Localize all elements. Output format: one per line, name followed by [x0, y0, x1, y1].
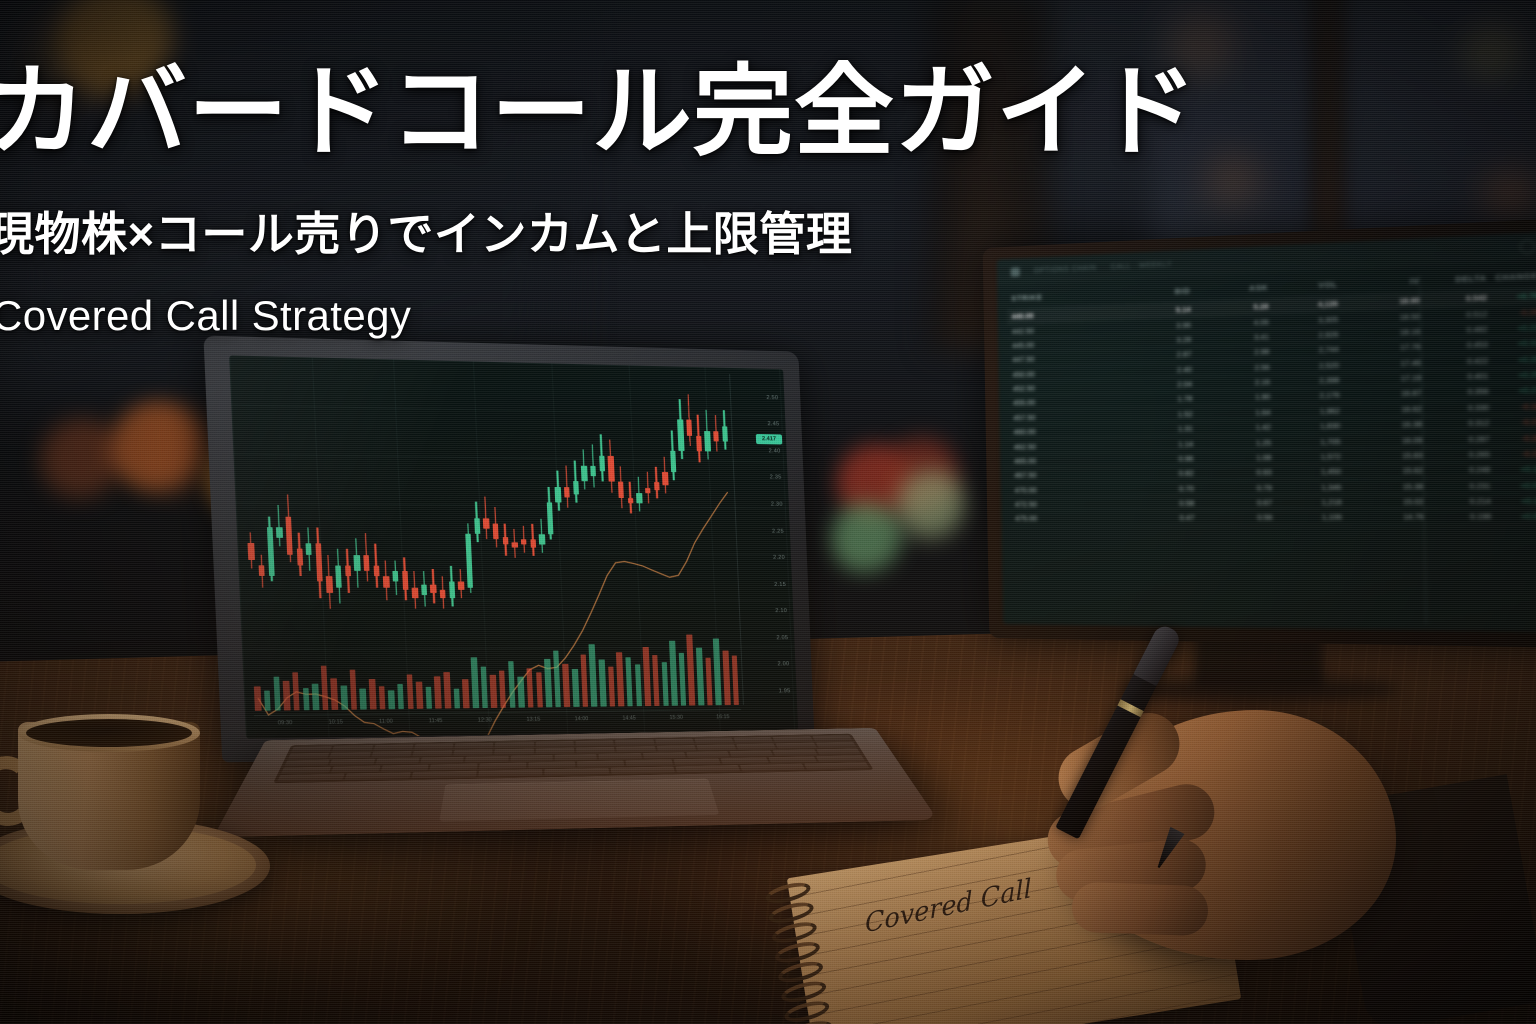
table-cell: +0.20	[1488, 354, 1536, 365]
price-tick: 1.95	[779, 688, 791, 694]
volume-bar	[378, 686, 385, 709]
table-cell: 2.04	[1116, 379, 1192, 390]
table-cell: 1.42	[1193, 422, 1271, 433]
table-body: 440.005.145.284,12618.900.542+0.78442.50…	[1008, 288, 1536, 526]
volume-bar	[713, 639, 721, 705]
current-price-tag: 2.417	[756, 434, 782, 445]
volume-bar	[526, 668, 534, 707]
volume-bar	[518, 677, 525, 708]
volume-bar	[553, 650, 561, 707]
table-cell: +0.27	[1489, 385, 1536, 396]
hero-banner: OPTIONS CHAIN CALL · WEEKLY STRIKEBIDASK…	[0, 0, 1536, 1024]
time-tick: 15:30	[669, 715, 683, 721]
laptop-warm-light	[213, 728, 938, 837]
table-cell: 455.00	[1013, 396, 1116, 408]
table-cell: +0.07	[1490, 480, 1536, 490]
table-cell: 450.00	[1013, 367, 1116, 379]
app-logo-icon	[1011, 267, 1020, 276]
table-cell: 2,744	[1269, 345, 1338, 357]
desktop-monitor: OPTIONS CHAIN CALL · WEEKLY STRIKEBIDASK…	[983, 218, 1536, 648]
volume-bar	[388, 690, 395, 709]
table-cell: 3.96	[1115, 320, 1191, 332]
bokeh-green-b	[896, 470, 968, 542]
monitor-tab-2[interactable]: CALL · WEEKLY	[1111, 261, 1172, 271]
table-cell: 15.02	[1341, 497, 1423, 507]
table-cell: 0.401	[1421, 371, 1488, 383]
time-tick: 14:45	[622, 715, 636, 721]
column-header[interactable]: DELTA	[1419, 273, 1486, 286]
volume-bar	[434, 677, 441, 709]
options-chain-table: STRIKEBIDASKVOLIVDELTACHANGE 440.005.145…	[1007, 265, 1536, 627]
time-tick: 11:00	[379, 719, 393, 725]
column-header[interactable]: BID	[1114, 286, 1190, 299]
volume-bar	[731, 656, 739, 705]
table-cell: 4.06	[1191, 317, 1269, 329]
table-cell: 15.62	[1341, 466, 1423, 477]
coffee-cup	[0, 700, 300, 930]
price-tick: 2.30	[771, 502, 783, 508]
bokeh-window-low2	[1482, 166, 1536, 224]
table-cell: 2.98	[1191, 347, 1269, 359]
table-cell: -0.28	[1487, 307, 1536, 319]
bokeh-window-amber	[1462, 20, 1524, 82]
volume-bar	[341, 685, 348, 710]
table-cell: 1.52	[1116, 409, 1192, 420]
table-cell: 1,572	[1271, 452, 1340, 463]
volume-bar	[490, 675, 497, 708]
table-cell: 0.287	[1422, 434, 1489, 445]
price-tick: 2.05	[776, 635, 788, 641]
table-cell: 470.00	[1015, 484, 1118, 494]
bokeh-amber-top-soft	[28, 6, 124, 102]
hand-writing	[1010, 612, 1440, 1024]
table-row[interactable]: 475.000.470.561,10614.760.198+0.05	[1011, 509, 1536, 526]
table-cell: 2.87	[1115, 350, 1191, 362]
table-cell: 5.28	[1191, 302, 1269, 314]
table-cell: 0.482	[1420, 324, 1487, 336]
price-tick: 2.35	[770, 475, 782, 481]
table-cell: 3.41	[1191, 332, 1269, 344]
volume-bar	[416, 681, 423, 709]
volume-bar	[462, 680, 469, 709]
table-cell: 0.214	[1423, 496, 1490, 506]
column-header[interactable]: ASK	[1190, 283, 1268, 296]
table-cell: 1.78	[1116, 394, 1192, 405]
table-cell: 0.82	[1117, 469, 1193, 479]
table-cell: 1,450	[1272, 467, 1341, 477]
table-cell: 447.50	[1012, 352, 1115, 364]
volume-bar	[443, 672, 451, 708]
table-cell: 4,126	[1269, 299, 1338, 311]
time-tick: 16:15	[716, 714, 729, 720]
table-cell: -0.20	[1490, 433, 1536, 444]
table-cell: -0.16	[1489, 401, 1536, 412]
table-cell: 0.265	[1423, 449, 1490, 460]
table-cell: +0.31	[1488, 338, 1536, 349]
finger-ring	[1071, 882, 1209, 937]
table-cell: 1.90	[1192, 392, 1270, 403]
volume-bar	[321, 665, 329, 710]
price-tick: 2.50	[766, 395, 778, 401]
table-cell: 1,106	[1272, 513, 1342, 523]
table-cell: 0.453	[1421, 340, 1488, 352]
table-cell: 1,218	[1272, 497, 1342, 507]
laptop-screen[interactable]: 2.502.452.402.352.302.252.202.152.102.05…	[229, 355, 798, 738]
pen-cap	[1133, 623, 1182, 686]
table-cell: 0.70	[1118, 484, 1194, 494]
column-header[interactable]: CHANGE	[1487, 271, 1536, 283]
table-cell: +0.11	[1490, 464, 1536, 474]
column-header[interactable]: STRIKE	[1011, 289, 1114, 303]
table-cell: 0.231	[1423, 481, 1490, 491]
table-cell: 0.47	[1118, 513, 1194, 523]
table-cell: 3.28	[1115, 335, 1191, 347]
volume-bar	[397, 684, 404, 710]
table-cell: +0.78	[1487, 291, 1536, 303]
table-cell: 2.56	[1192, 362, 1270, 374]
table-cell: 2.40	[1116, 364, 1192, 376]
table-cell: 442.50	[1012, 323, 1115, 336]
laptop-computer: 2.502.452.402.352.302.252.202.152.102.05…	[255, 352, 825, 952]
pen-trim-ring	[1117, 699, 1143, 717]
price-tick: 2.15	[774, 582, 786, 588]
volume-bar	[572, 669, 579, 707]
table-cell: -0.22	[1490, 448, 1536, 459]
table-cell: 1.25	[1193, 438, 1271, 449]
table-cell: 440.00	[1012, 308, 1115, 321]
volume-bar	[544, 659, 552, 707]
table-cell: +0.23	[1487, 322, 1536, 334]
volume-bar	[536, 672, 543, 707]
price-tick: 2.40	[768, 448, 780, 454]
table-cell: 18.50	[1338, 311, 1420, 324]
table-cell: +0.05	[1491, 512, 1536, 522]
table-cell: 15.83	[1341, 450, 1423, 461]
table-cell: 452.50	[1013, 381, 1116, 393]
time-tick: 10:15	[328, 719, 343, 726]
table-cell: 0.330	[1422, 402, 1489, 413]
volume-bar	[499, 671, 506, 708]
table-cell: 0.248	[1423, 465, 1490, 476]
column-header[interactable]: IV	[1337, 276, 1419, 289]
volume-bar	[687, 635, 696, 706]
volume-bar	[635, 664, 642, 706]
table-cell: 1.64	[1192, 407, 1270, 418]
table-cell: 460.00	[1014, 426, 1117, 437]
price-tick: 2.00	[777, 662, 789, 668]
table-cell: 5.14	[1115, 305, 1191, 317]
table-cell: 17.19	[1339, 373, 1421, 385]
volume-bar	[369, 679, 376, 709]
price-tick: 2.45	[767, 421, 779, 427]
volume-bars	[251, 634, 741, 711]
table-cell: 18.16	[1338, 327, 1420, 339]
table-cell: 462.50	[1014, 440, 1117, 451]
volume-bar	[360, 688, 367, 709]
table-cell: 1,830	[1271, 421, 1340, 432]
table-cell: 15.38	[1341, 481, 1423, 491]
table-cell: 1.31	[1117, 424, 1193, 435]
volume-bar	[349, 670, 357, 710]
table-cell: 16.38	[1340, 419, 1422, 430]
table-cell: 0.96	[1117, 454, 1193, 464]
table-cell: 0.512	[1420, 309, 1487, 321]
table-cell: 2,398	[1270, 375, 1339, 386]
table-cell: 16.62	[1340, 404, 1422, 415]
time-tick: 11:45	[429, 718, 443, 724]
table-cell: 0.93	[1193, 468, 1271, 478]
column-header[interactable]: VOL	[1268, 280, 1337, 292]
volume-bar	[599, 660, 607, 707]
table-cell: 0.422	[1421, 355, 1488, 367]
table-cell: -0.21	[1489, 417, 1536, 428]
table-cell: 2.16	[1192, 377, 1270, 388]
table-cell: 2,520	[1270, 360, 1339, 372]
volume-bar	[589, 644, 597, 707]
volume-bar	[480, 666, 488, 708]
table-cell: 0.312	[1422, 418, 1489, 429]
price-tick: 2.20	[773, 555, 785, 561]
table-cell: 1,346	[1272, 482, 1341, 492]
time-tick: 14:00	[575, 716, 589, 722]
table-cell: 475.00	[1015, 514, 1118, 524]
monitor-tab-1[interactable]: OPTIONS CHAIN	[1034, 264, 1097, 274]
volume-bar	[331, 679, 338, 710]
table-cell: 0.542	[1420, 293, 1487, 305]
table-cell: 2,926	[1269, 329, 1338, 341]
volume-bar	[679, 653, 687, 706]
price-tick: 2.25	[772, 528, 784, 534]
table-cell: 467.50	[1014, 470, 1117, 480]
table-cell: 16.09	[1340, 435, 1422, 446]
volume-bar	[643, 647, 651, 706]
laptop-lid: 2.502.452.402.352.302.252.202.152.102.05…	[203, 336, 815, 763]
volume-bar	[696, 647, 704, 705]
volume-bar	[453, 689, 460, 709]
volume-bar	[625, 658, 633, 707]
table-cell: 0.79	[1194, 483, 1272, 493]
time-tick: 12:30	[478, 717, 492, 723]
volume-bar	[471, 658, 479, 709]
volume-bar	[652, 655, 660, 706]
volume-bar	[406, 675, 413, 709]
table-cell: 3,305	[1269, 314, 1338, 326]
monitor-screen[interactable]: OPTIONS CHAIN CALL · WEEKLY STRIKEBIDASK…	[997, 232, 1536, 632]
table-cell: +0.11	[1491, 496, 1536, 506]
volume-bar	[722, 650, 730, 705]
bokeh-window-low	[1206, 152, 1262, 208]
bokeh-window-peach	[1168, 10, 1238, 80]
table-cell: 1.14	[1117, 439, 1193, 450]
table-cell: 14.76	[1342, 512, 1424, 522]
table-cell: 17.46	[1339, 357, 1421, 369]
time-tick: 13:15	[526, 717, 540, 723]
volume-bar	[563, 663, 571, 707]
volume-bar	[669, 641, 677, 706]
table-cell: +0.25	[1488, 370, 1536, 381]
volume-bar	[425, 687, 432, 709]
table-cell: 1,705	[1271, 436, 1340, 447]
bokeh-orange-mid2	[132, 408, 218, 494]
laptop-base	[213, 728, 938, 837]
table-cell: 0.356	[1421, 387, 1488, 398]
table-cell: 2,176	[1270, 390, 1339, 401]
volume-bar	[616, 652, 624, 706]
table-cell: 0.58	[1118, 498, 1194, 508]
table-cell: 0.198	[1424, 512, 1491, 522]
table-cell: 17.76	[1339, 342, 1421, 354]
table-cell: 472.50	[1015, 499, 1118, 509]
table-cell: 16.87	[1339, 388, 1421, 400]
table-cell: 457.50	[1013, 411, 1116, 422]
power-icon[interactable]	[1520, 239, 1536, 254]
table-cell: 18.90	[1338, 296, 1420, 309]
bokeh-green-a	[830, 502, 904, 576]
volume-bar	[312, 683, 319, 710]
table-cell: 1,962	[1270, 406, 1339, 417]
volume-bar	[705, 658, 713, 705]
volume-bar	[608, 666, 615, 706]
volume-bar	[580, 655, 588, 707]
table-cell: 0.67	[1194, 498, 1272, 508]
volume-bar	[661, 662, 669, 706]
volume-bar	[302, 688, 309, 710]
table-cell: 1.08	[1193, 453, 1271, 464]
table-cell: 445.00	[1012, 337, 1115, 350]
table-cell: 465.00	[1014, 455, 1117, 466]
price-tick: 2.10	[775, 608, 787, 614]
volume-bar	[508, 662, 516, 708]
coffee-liquid	[26, 719, 192, 747]
table-cell: 0.56	[1194, 513, 1272, 523]
